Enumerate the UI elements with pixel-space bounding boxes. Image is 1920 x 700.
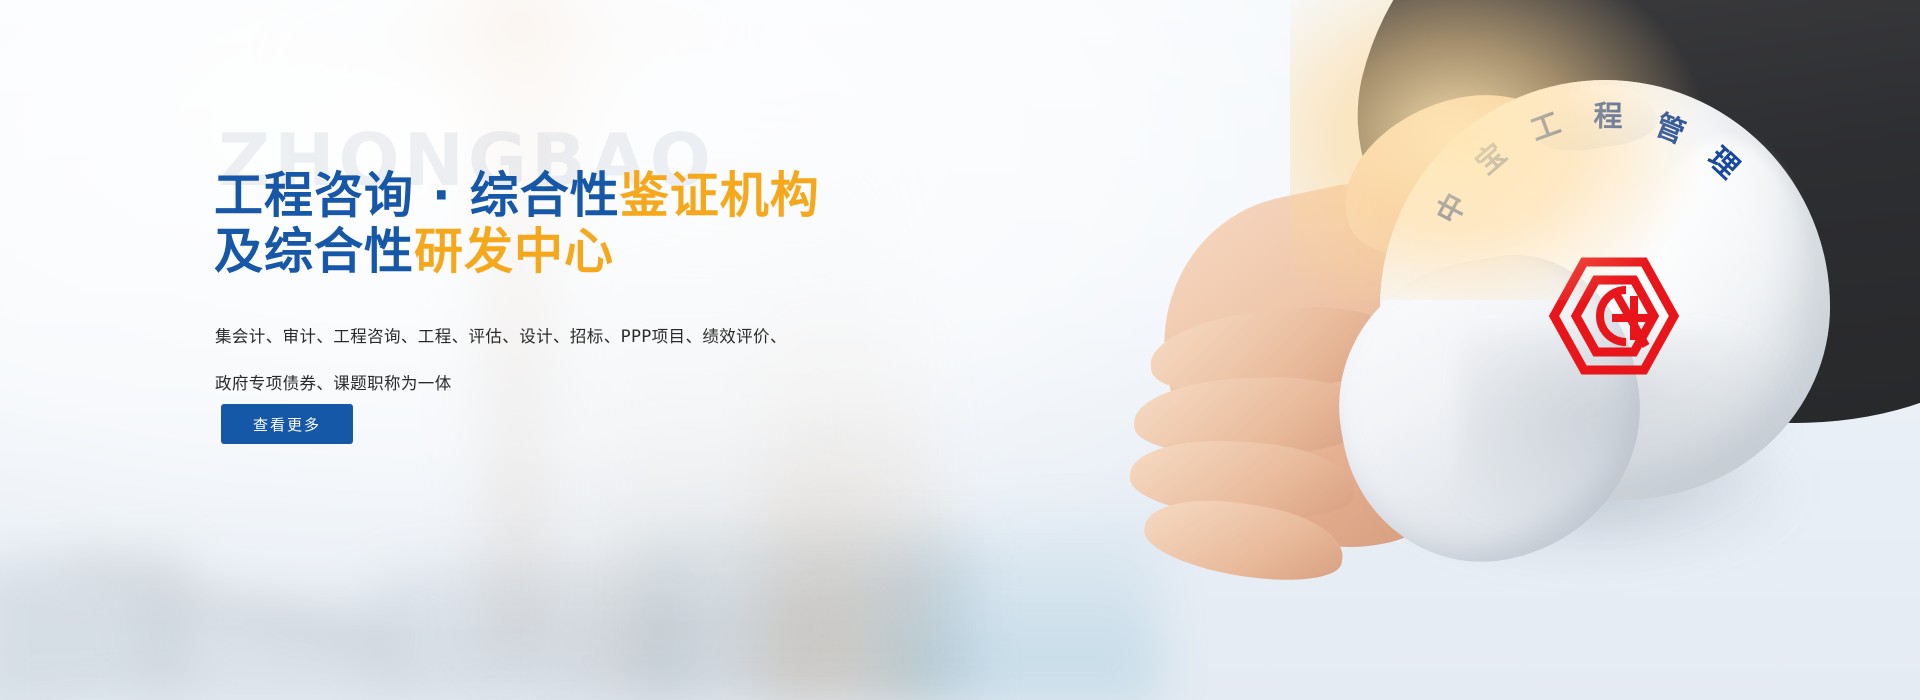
headline-line-1-primary: 工程咨询 · 综合性 bbox=[214, 167, 620, 224]
white-hard-hat: 中宝工程管理 bbox=[1340, 80, 1860, 580]
helmet-brand-char: 管 bbox=[1650, 102, 1693, 152]
helmet-brand-char: 程 bbox=[1593, 93, 1623, 136]
headline-line-1: 工程咨询 · 综合性鉴证机构 bbox=[214, 168, 820, 224]
hero-content: ZHONGBAO 工程咨询 · 综合性鉴证机构 及综合性研发中心 集会计、审计、… bbox=[0, 0, 900, 700]
headline-line-2-primary: 及综合性 bbox=[214, 223, 414, 280]
headline-line-1-accent: 鉴证机构 bbox=[620, 167, 820, 224]
description-line-1: 集会计、审计、工程咨询、工程、评估、设计、招标、PPP项目、绩效评价、 bbox=[215, 313, 815, 360]
zhongbao-hexagon-logo bbox=[1548, 256, 1680, 376]
helmet-brand-char: 中 bbox=[1424, 185, 1475, 230]
helmet-brand-char: 理 bbox=[1700, 136, 1750, 187]
hero-banner: 中宝工程管理 ZHONGBAO 工程咨询 · 综合性鉴证机构 bbox=[0, 0, 1920, 700]
headline-line-2: 及综合性研发中心 bbox=[214, 224, 820, 280]
headline-line-2-accent: 研发中心 bbox=[414, 223, 614, 280]
view-more-button[interactable]: 查看更多 bbox=[221, 404, 353, 444]
description-line-2: 政府专项债券、课题职称为一体 bbox=[215, 360, 815, 407]
hero-description: 集会计、审计、工程咨询、工程、评估、设计、招标、PPP项目、绩效评价、 政府专项… bbox=[215, 313, 815, 407]
helmet-brand-char: 宝 bbox=[1465, 132, 1514, 183]
hero-headline: 工程咨询 · 综合性鉴证机构 及综合性研发中心 bbox=[214, 168, 820, 280]
helmet-brand-char: 工 bbox=[1524, 100, 1566, 149]
hand-holding-helmet-photo: 中宝工程管理 bbox=[800, 0, 1920, 700]
